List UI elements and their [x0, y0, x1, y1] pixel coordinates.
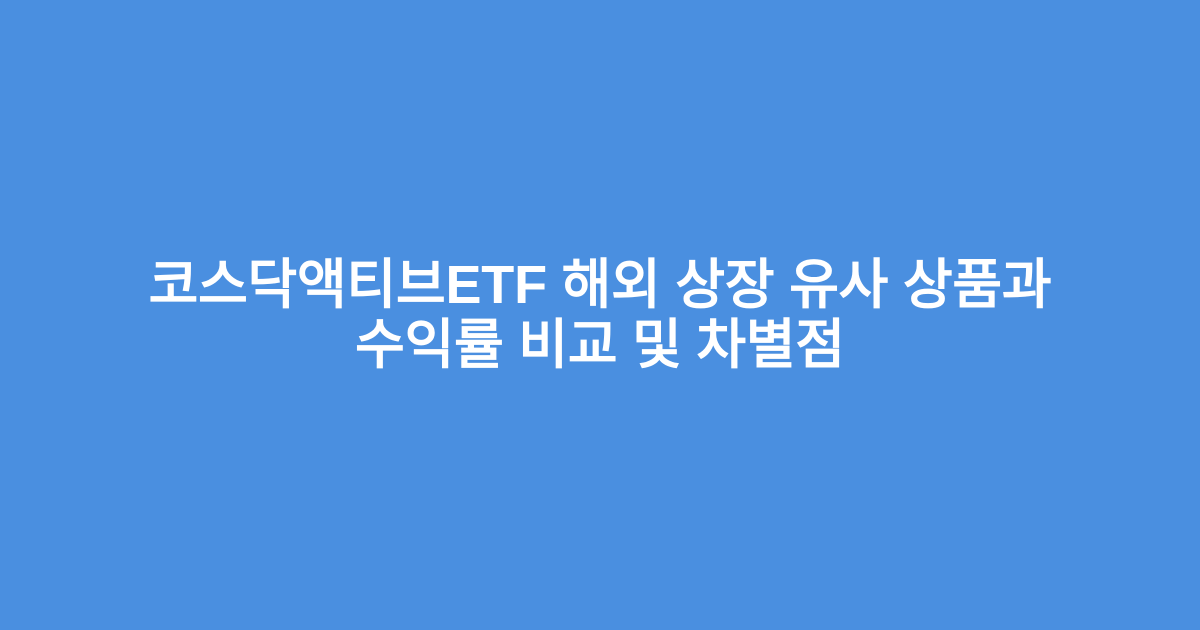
page-title: 코스닥액티브ETF 해외 상장 유사 상품과 수익률 비교 및 차별점	[70, 255, 1130, 375]
share-card-content: 코스닥액티브ETF 해외 상장 유사 상품과 수익률 비교 및 차별점	[70, 255, 1130, 375]
share-card: 코스닥액티브ETF 해외 상장 유사 상품과 수익률 비교 및 차별점	[0, 0, 1200, 630]
